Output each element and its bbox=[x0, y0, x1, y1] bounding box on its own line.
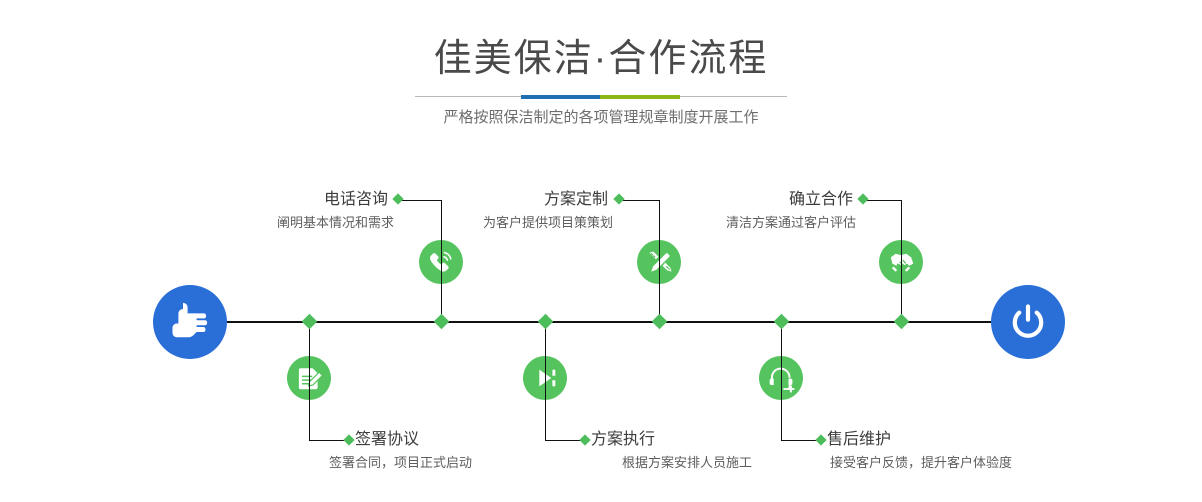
step-5-elbow-horizontal bbox=[864, 200, 902, 201]
step-5-stem bbox=[901, 240, 902, 322]
step-4-label-marker bbox=[579, 434, 590, 445]
step-6-stem bbox=[781, 322, 782, 400]
step-2-subtitle: 签署合同，项目正式启动 bbox=[329, 453, 569, 473]
timeline-end-badge bbox=[991, 285, 1065, 359]
step-3-label-marker bbox=[613, 193, 624, 204]
flow-diagram: 佳美保洁·合作流程 严格按照保洁制定的各项管理规章制度开展工作 电话咨询 bbox=[0, 0, 1202, 502]
step-3-axis-marker bbox=[652, 314, 668, 330]
timeline-start-badge bbox=[153, 285, 227, 359]
step-5-elbow-vertical bbox=[901, 200, 902, 242]
page-subtitle: 严格按照保洁制定的各项管理规章制度开展工作 bbox=[0, 106, 1202, 130]
step-1-title: 电话咨询 bbox=[200, 189, 388, 211]
step-4-title: 方案执行 bbox=[591, 429, 791, 451]
step-5-axis-marker bbox=[894, 314, 910, 330]
step-2-label-marker bbox=[343, 434, 354, 445]
step-1-subtitle: 阐明基本情况和需求 bbox=[180, 213, 394, 233]
divider-blue-segment bbox=[521, 95, 600, 99]
step-4-subtitle: 根据方案安排人员施工 bbox=[622, 453, 862, 473]
step-5-subtitle: 清洁方案通过客户评估 bbox=[638, 213, 856, 233]
step-6-label-marker bbox=[815, 434, 826, 445]
step-1-stem bbox=[441, 240, 442, 322]
title-divider bbox=[415, 95, 787, 99]
step-3-elbow-horizontal bbox=[620, 200, 660, 201]
step-4-elbow-vertical bbox=[545, 398, 546, 440]
power-icon bbox=[991, 285, 1065, 359]
step-2-title: 签署协议 bbox=[355, 429, 555, 451]
step-2-elbow-vertical bbox=[309, 398, 310, 440]
step-2-stem bbox=[309, 322, 310, 400]
step-5-title: 确立合作 bbox=[665, 189, 853, 211]
step-3-title: 方案定制 bbox=[420, 189, 608, 211]
step-4-axis-marker bbox=[538, 314, 554, 330]
step-1-label-marker bbox=[392, 193, 403, 204]
step-1-axis-marker bbox=[434, 314, 450, 330]
step-3-subtitle: 为客户提供项目策策划 bbox=[395, 213, 613, 233]
step-6-subtitle: 接受客户反馈，提升客户体验度 bbox=[830, 453, 1090, 473]
page-title: 佳美保洁·合作流程 bbox=[0, 36, 1202, 82]
step-6-elbow-vertical bbox=[781, 398, 782, 440]
divider-green-segment bbox=[600, 95, 680, 99]
step-3-stem bbox=[659, 240, 660, 322]
step-5-label-marker bbox=[857, 193, 868, 204]
pointing-hand-icon bbox=[153, 285, 227, 359]
step-4-stem bbox=[545, 322, 546, 400]
step-6-title: 售后维护 bbox=[827, 429, 1027, 451]
step-6-axis-marker bbox=[774, 314, 790, 330]
step-2-axis-marker bbox=[302, 314, 318, 330]
